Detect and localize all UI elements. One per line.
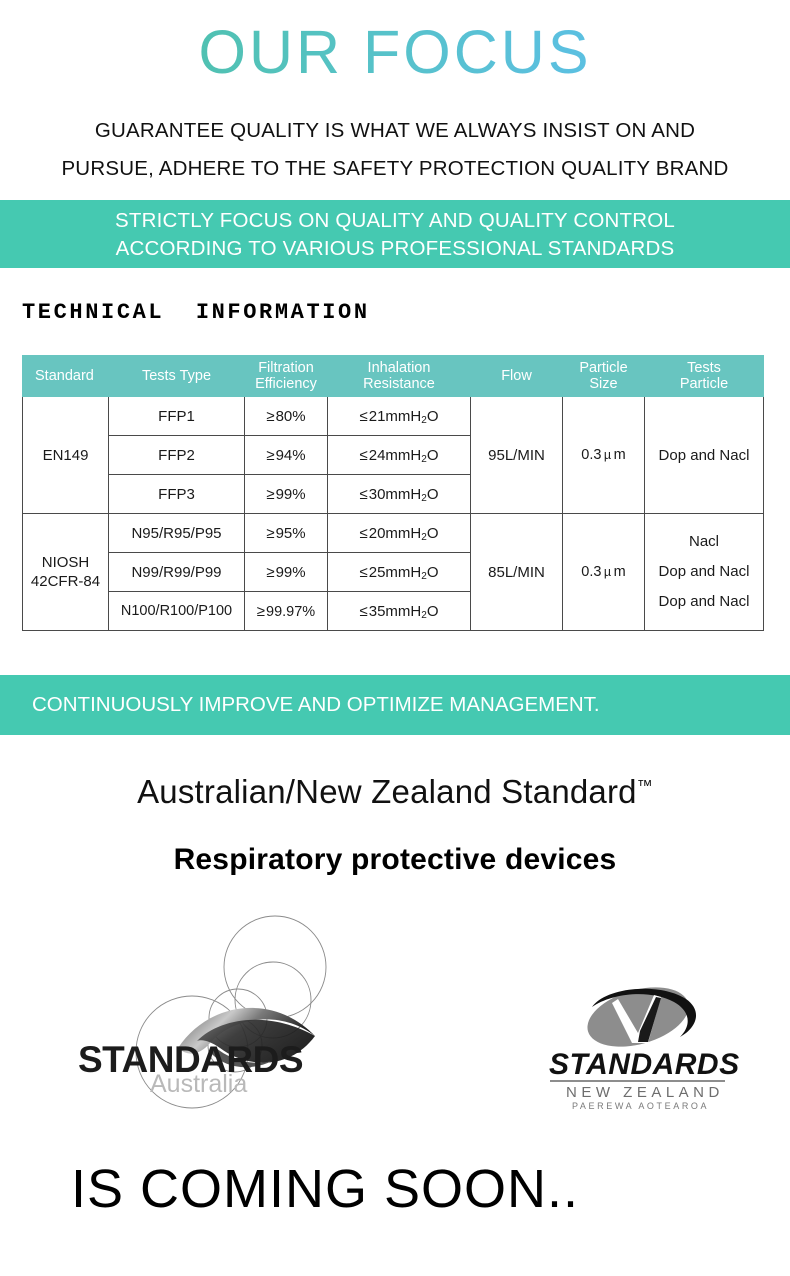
cell-test-type: FFP3 [109,475,245,514]
ge-symbol: ≥ [266,447,275,464]
cell-particle-size: 0.3 µ m [563,514,645,631]
table-row: EN149 FFP1 ≥80% ≤21mmH2O 95L/MIN 0.3 µ m… [23,397,764,436]
cell-inhalation-resistance: ≤30mmH2O [328,475,471,514]
coming-soon-text: IS COMING SOON.. [0,1158,790,1220]
ir-value: 30mmH [369,486,422,503]
col-filtration-efficiency: Filtration Efficiency [245,356,328,397]
col-standard: Standard [23,356,109,397]
ge-symbol: ≥ [266,408,275,425]
cell-inhalation-resistance: ≤21mmH2O [328,397,471,436]
cell-filtration-efficiency: ≥99% [245,553,328,592]
ir-value: 35mmH [369,603,422,620]
cell-flow: 85L/MIN [471,514,563,631]
ir-value: 20mmH [369,525,422,542]
standards-nz-sub-wordmark: NEW ZEALAND [566,1084,724,1101]
standards-new-zealand-logo: STANDARDS NEW ZEALAND PAEREWA AOTEAROA [520,985,755,1110]
col-ps-l2: Size [565,376,642,392]
cell-test-type: N99/R99/P99 [109,553,245,592]
le-symbol: ≤ [360,486,369,503]
cell-standard-niosh: NIOSH 42CFR-84 [23,514,109,631]
col-fe-l1: Filtration [247,360,325,376]
cell-test-type: N95/R95/P95 [109,514,245,553]
ge-symbol: ≥ [257,603,266,620]
col-particle-size: Particle Size [563,356,645,397]
cell-test-type: N100/R100/P100 [109,592,245,631]
technical-information-table-wrap: Standard Tests Type Filtration Efficienc… [22,355,763,631]
table-header-row: Standard Tests Type Filtration Efficienc… [23,356,764,397]
cell-filtration-efficiency: ≥95% [245,514,328,553]
ge-symbol: ≥ [266,486,275,503]
tests-particle-line-3: Dop and Nacl [647,587,761,617]
col-inhalation-resistance: Inhalation Resistance [328,356,471,397]
ir-tail: O [427,525,439,542]
micro-symbol: µ [601,448,613,462]
cell-inhalation-resistance: ≤35mmH2O [328,592,471,631]
standards-australia-sub-wordmark: Australia [150,1070,247,1098]
table-row: NIOSH 42CFR-84 N95/R95/P95 ≥95% ≤20mmH2O… [23,514,764,553]
ir-sub: 2 [421,493,427,504]
cell-filtration-efficiency: ≥99% [245,475,328,514]
ir-value: 21mmH [369,408,422,425]
le-symbol: ≤ [360,408,369,425]
banner-quality-focus: STRICTLY FOCUS ON QUALITY AND QUALITY CO… [0,200,790,268]
banner-bottom-line-1: CONTINUOUSLY IMPROVE AND OPTIMIZE MANAGE… [0,691,600,719]
cell-particle-size: 0.3 µ m [563,397,645,514]
le-symbol: ≤ [360,603,369,620]
hero-subtitle-line-2: PURSUE, ADHERE TO THE SAFETY PROTECTION … [0,150,790,188]
le-symbol: ≤ [360,525,369,542]
fe-value: 80% [276,408,306,425]
ir-sub: 2 [421,571,427,582]
banner-continuous-improvement: CONTINUOUSLY IMPROVE AND OPTIMIZE MANAGE… [0,675,790,735]
section-heading-technical-information: TECHNICAL INFORMATION [22,300,370,325]
col-ir-l2: Resistance [330,376,468,392]
ge-symbol: ≥ [266,525,275,542]
ir-sub: 2 [421,454,427,465]
col-ps-l1: Particle [565,360,642,376]
col-tests-type-l1: Tests Type [142,368,211,384]
cell-filtration-efficiency: ≥94% [245,436,328,475]
ps-unit: m [614,564,626,580]
standards-nz-maori-wordmark: PAEREWA AOTEAROA [572,1101,709,1110]
banner-top-line-2: ACCORDING TO VARIOUS PROFESSIONAL STANDA… [0,235,790,263]
aus-nz-standard-title-text: Australian/New Zealand Standard [137,773,637,810]
fe-value: 99% [276,564,306,581]
col-tests-particle: Tests Particle [645,356,764,397]
trademark-symbol: ™ [637,778,653,795]
ir-tail: O [427,408,439,425]
ir-sub: 2 [421,610,427,621]
niosh-line-2: 42CFR-84 [25,572,106,591]
le-symbol: ≤ [360,447,369,464]
technical-information-table: Standard Tests Type Filtration Efficienc… [22,355,764,631]
cell-filtration-efficiency: ≥80% [245,397,328,436]
ps-number: 0.3 [581,564,601,580]
cell-tests-particle: Dop and Nacl [645,397,764,514]
banner-top-line-1: STRICTLY FOCUS ON QUALITY AND QUALITY CO… [0,207,790,235]
standards-nz-emblem [581,985,696,1057]
hero-subtitle: GUARANTEE QUALITY IS WHAT WE ALWAYS INSI… [0,112,790,188]
ir-tail: O [427,447,439,464]
col-tp-l2: Particle [647,376,761,392]
col-flow-l1: Flow [501,368,532,384]
tests-particle-line-2: Dop and Nacl [647,557,761,587]
respiratory-devices-subtitle: Respiratory protective devices [0,843,790,877]
col-ir-l1: Inhalation [330,360,468,376]
fe-value: 95% [276,525,306,542]
cell-filtration-efficiency: ≥99.97% [245,592,328,631]
ir-tail: O [427,603,439,620]
fe-value: 94% [276,447,306,464]
standards-australia-logo: STANDARDS Australia [60,900,390,1150]
cell-test-type: FFP1 [109,397,245,436]
col-tests-type: Tests Type [109,356,245,397]
col-tp-l1: Tests [647,360,761,376]
cell-flow: 95L/MIN [471,397,563,514]
standards-nz-wordmark: STANDARDS [549,1048,740,1081]
ir-sub: 2 [421,532,427,543]
fe-value: 99% [276,486,306,503]
aus-nz-standard-title: Australian/New Zealand Standard™ [0,773,790,811]
ge-symbol: ≥ [266,564,275,581]
ir-value: 25mmH [369,564,422,581]
hero-subtitle-line-1: GUARANTEE QUALITY IS WHAT WE ALWAYS INSI… [0,112,790,150]
le-symbol: ≤ [360,564,369,581]
col-fe-l2: Efficiency [247,376,325,392]
ir-tail: O [427,486,439,503]
cell-inhalation-resistance: ≤24mmH2O [328,436,471,475]
micro-symbol: µ [601,565,613,579]
fe-value: 99.97% [266,604,315,620]
ir-tail: O [427,564,439,581]
tests-particle-line-1: Nacl [647,527,761,557]
col-standard-l1: Standard [35,368,94,384]
infographic-page: OUR FOCUS GUARANTEE QUALITY IS WHAT WE A… [0,0,790,1276]
cell-inhalation-resistance: ≤20mmH2O [328,514,471,553]
ir-value: 24mmH [369,447,422,464]
cell-inhalation-resistance: ≤25mmH2O [328,553,471,592]
niosh-line-1: NIOSH [25,553,106,572]
cell-tests-particle-group: Nacl Dop and Nacl Dop and Nacl [645,514,764,631]
ir-sub: 2 [421,415,427,426]
page-title: OUR FOCUS [0,22,790,83]
ps-unit: m [614,447,626,463]
cell-test-type: FFP2 [109,436,245,475]
cell-standard-en149: EN149 [23,397,109,514]
ps-number: 0.3 [581,447,601,463]
col-flow: Flow [471,356,563,397]
